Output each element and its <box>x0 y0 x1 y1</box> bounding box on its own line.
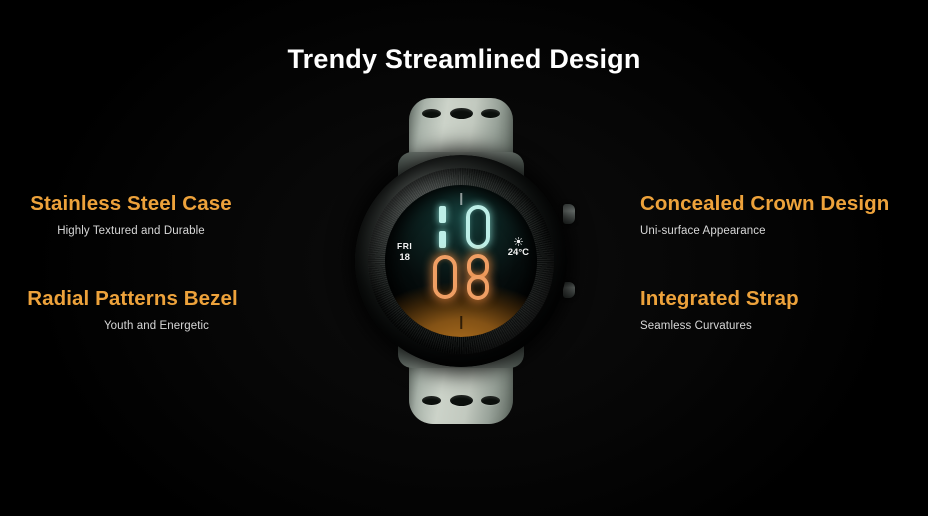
dial-tick-bottom <box>460 316 462 329</box>
strap-hole <box>450 108 473 119</box>
minute-digit-second <box>464 253 492 301</box>
date-day-of-month: 18 <box>397 252 412 264</box>
strap-perforations-top <box>422 108 500 119</box>
upper-crown-button[interactable] <box>563 204 575 224</box>
feature-title: Stainless Steel Case <box>0 192 262 216</box>
feature-subtitle: Youth and Energetic <box>0 320 265 332</box>
minute-digit-first <box>431 253 459 301</box>
lower-crown-button[interactable] <box>563 282 575 298</box>
strap-hole <box>481 396 500 405</box>
strap-hole <box>422 396 441 405</box>
sun-icon <box>514 237 523 246</box>
watch-face-display[interactable]: FRI 18 24°C <box>385 185 537 337</box>
feature-integrated-strap: Integrated Strap Seamless Curvatures <box>640 287 920 332</box>
feature-radial-patterns-bezel: Radial Patterns Bezel Youth and Energeti… <box>0 287 265 332</box>
strap-hole <box>481 109 500 118</box>
watch-face-date-widget: FRI 18 <box>397 241 412 264</box>
feature-title: Integrated Strap <box>640 287 920 311</box>
feature-subtitle: Highly Textured and Durable <box>0 225 262 237</box>
date-day-of-week: FRI <box>397 241 412 252</box>
page-title: Trendy Streamlined Design <box>0 44 928 75</box>
feature-title: Radial Patterns Bezel <box>0 287 265 311</box>
feature-title: Concealed Crown Design <box>640 192 920 216</box>
weather-temperature: 24°C <box>508 247 529 258</box>
feature-subtitle: Seamless Curvatures <box>640 320 920 332</box>
strap-perforations-bottom <box>422 395 500 406</box>
smartwatch-product-image: FRI 18 24°C <box>341 96 581 426</box>
strap-hole <box>450 395 473 406</box>
hour-digit-first <box>431 203 459 251</box>
strap-hole <box>422 109 441 118</box>
hour-digit-second <box>464 203 492 251</box>
feature-subtitle: Uni-surface Appearance <box>640 225 920 237</box>
watch-face-weather-widget: 24°C <box>508 237 529 258</box>
slide-canvas: Trendy Streamlined Design Stainless Stee… <box>0 0 928 516</box>
feature-concealed-crown-design: Concealed Crown Design Uni-surface Appea… <box>640 192 920 237</box>
feature-stainless-steel-case: Stainless Steel Case Highly Textured and… <box>0 192 262 237</box>
